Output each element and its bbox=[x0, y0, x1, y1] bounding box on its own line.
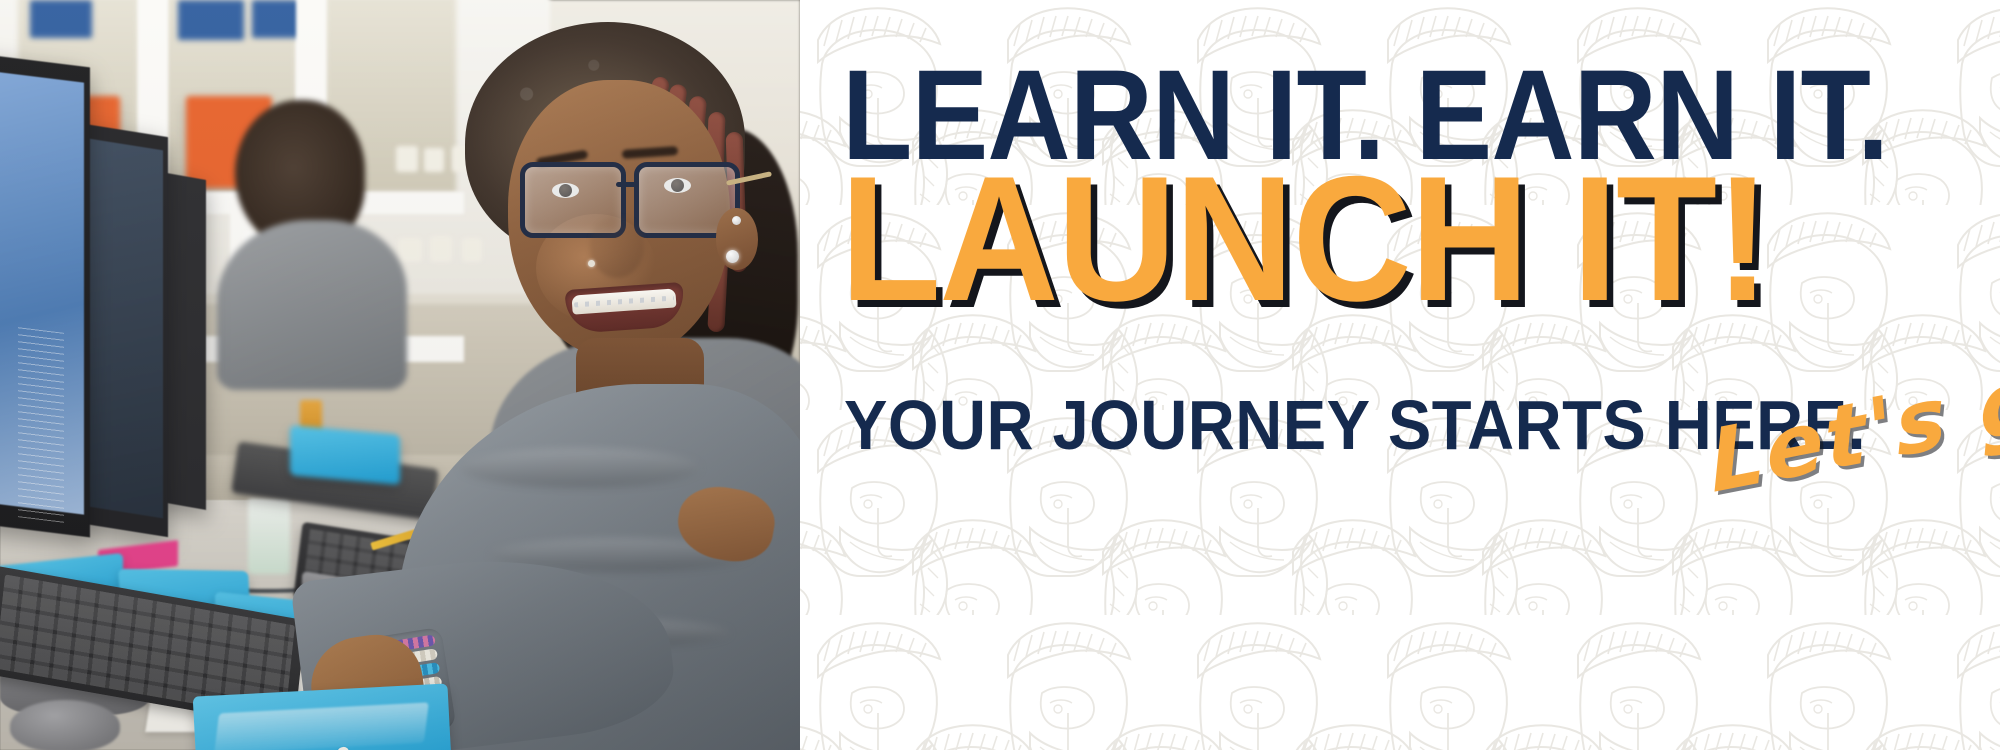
eyeglass-bridge bbox=[616, 182, 638, 187]
nose-stud bbox=[588, 260, 595, 267]
earring-cartilage bbox=[732, 216, 741, 225]
monitor-middle bbox=[78, 123, 168, 537]
monitor-screen-rows bbox=[18, 327, 64, 523]
script-tagline: Let's go! bbox=[1706, 336, 2000, 506]
student-nose bbox=[590, 216, 644, 278]
scrub-fold bbox=[460, 448, 700, 488]
earring-lobe bbox=[726, 250, 739, 263]
shelf-box-blue-1 bbox=[30, 0, 92, 38]
marketing-banner: LEARN IT. EARN IT. LAUNCH IT! YOUR JOURN… bbox=[0, 0, 2000, 750]
hero-photo bbox=[0, 0, 800, 750]
foreground-student bbox=[340, 18, 800, 750]
pill bbox=[338, 747, 349, 750]
headline-pane: LEARN IT. EARN IT. LAUNCH IT! YOUR JOURN… bbox=[800, 0, 2000, 750]
photo-scene bbox=[0, 0, 800, 750]
monitor-middle-screen bbox=[86, 138, 163, 518]
computer-mouse bbox=[10, 700, 120, 750]
shelf-box-blue-2 bbox=[178, 0, 244, 40]
headline-content: LEARN IT. EARN IT. LAUNCH IT! YOUR JOURN… bbox=[842, 0, 1970, 750]
headline-line-2: LAUNCH IT! bbox=[840, 150, 1768, 328]
